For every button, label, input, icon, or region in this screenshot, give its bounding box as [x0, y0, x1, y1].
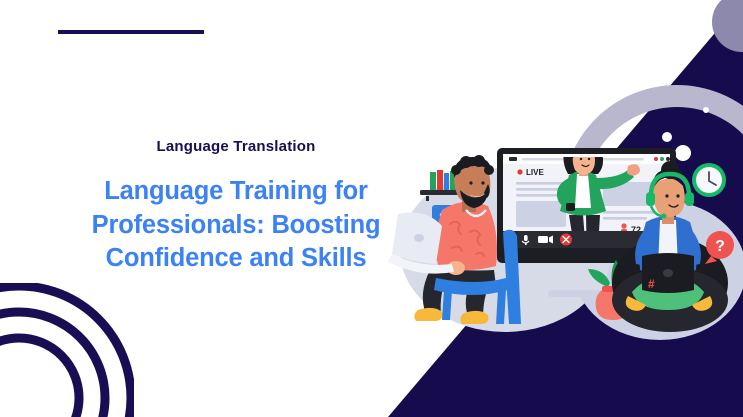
page-title: Language Training for Professionals: Boo…	[62, 175, 410, 276]
end-call-icon	[560, 234, 572, 246]
window-dot-red	[654, 157, 658, 161]
bottom-left-concentric-arcs	[0, 283, 134, 417]
camera-icon	[538, 236, 553, 244]
window-dot-dark	[666, 157, 670, 161]
window-dot-green	[660, 157, 664, 161]
svg-text:?: ?	[715, 238, 725, 255]
top-left-navy-rule	[58, 30, 204, 34]
eyebrow-label: Language Translation	[62, 138, 410, 155]
wall-clock-icon	[692, 163, 726, 197]
decor-dot-2	[675, 145, 691, 161]
hero-illustration: LIVE	[370, 0, 743, 417]
presentation-slide: Language Translation Language Training f…	[0, 0, 743, 417]
decor-dot-1	[662, 132, 672, 142]
slide-text-block: Language Translation Language Training f…	[62, 138, 410, 276]
svg-text:#: #	[648, 277, 655, 291]
svg-text:LIVE: LIVE	[526, 168, 544, 177]
decor-dot-3	[703, 107, 709, 113]
